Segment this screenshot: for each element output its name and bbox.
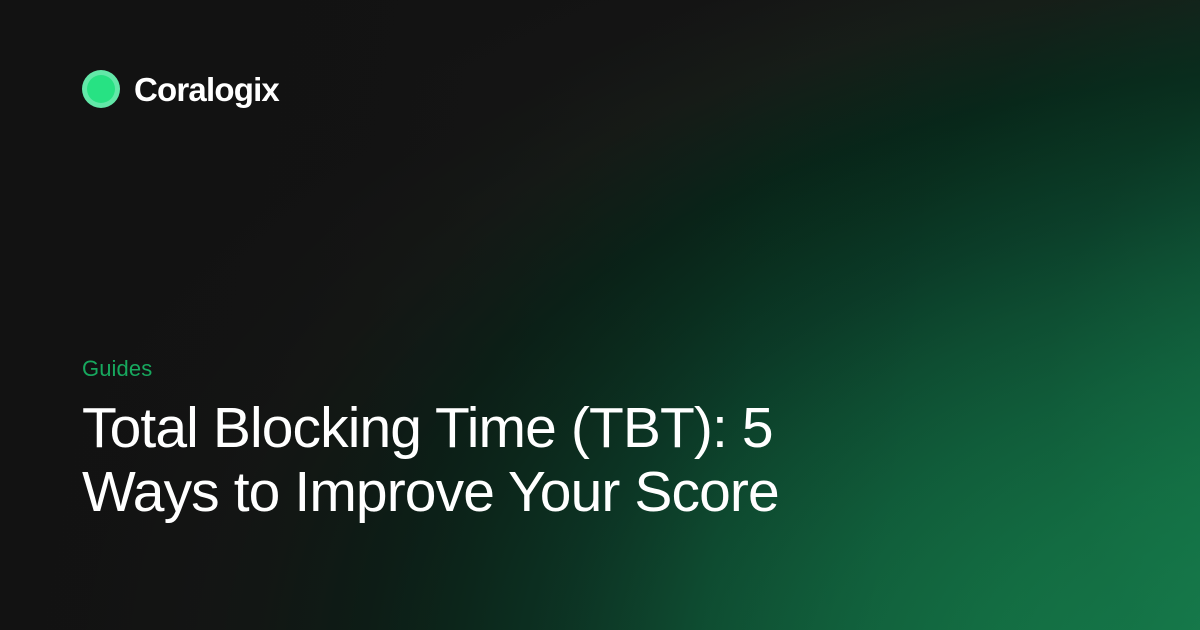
page-title: Total Blocking Time (TBT): 5 Ways to Imp… — [82, 396, 782, 524]
coralogix-circle-icon — [82, 70, 120, 108]
page-title-line-2: Ways to Improve Your Score — [82, 460, 779, 524]
brand-wordmark: Coralogix — [134, 73, 279, 106]
brand-logo[interactable]: Coralogix — [82, 68, 279, 110]
og-share-card: Coralogix Guides Total Blocking Time (TB… — [0, 0, 1200, 630]
article-block: Guides Total Blocking Time (TBT): 5 Ways… — [82, 356, 842, 524]
category-label[interactable]: Guides — [82, 356, 842, 382]
page-title-line-1: Total Blocking Time (TBT): 5 — [82, 396, 773, 460]
card-content: Coralogix Guides Total Blocking Time (TB… — [0, 0, 1200, 630]
coralogix-circle-icon-inner — [87, 75, 115, 103]
